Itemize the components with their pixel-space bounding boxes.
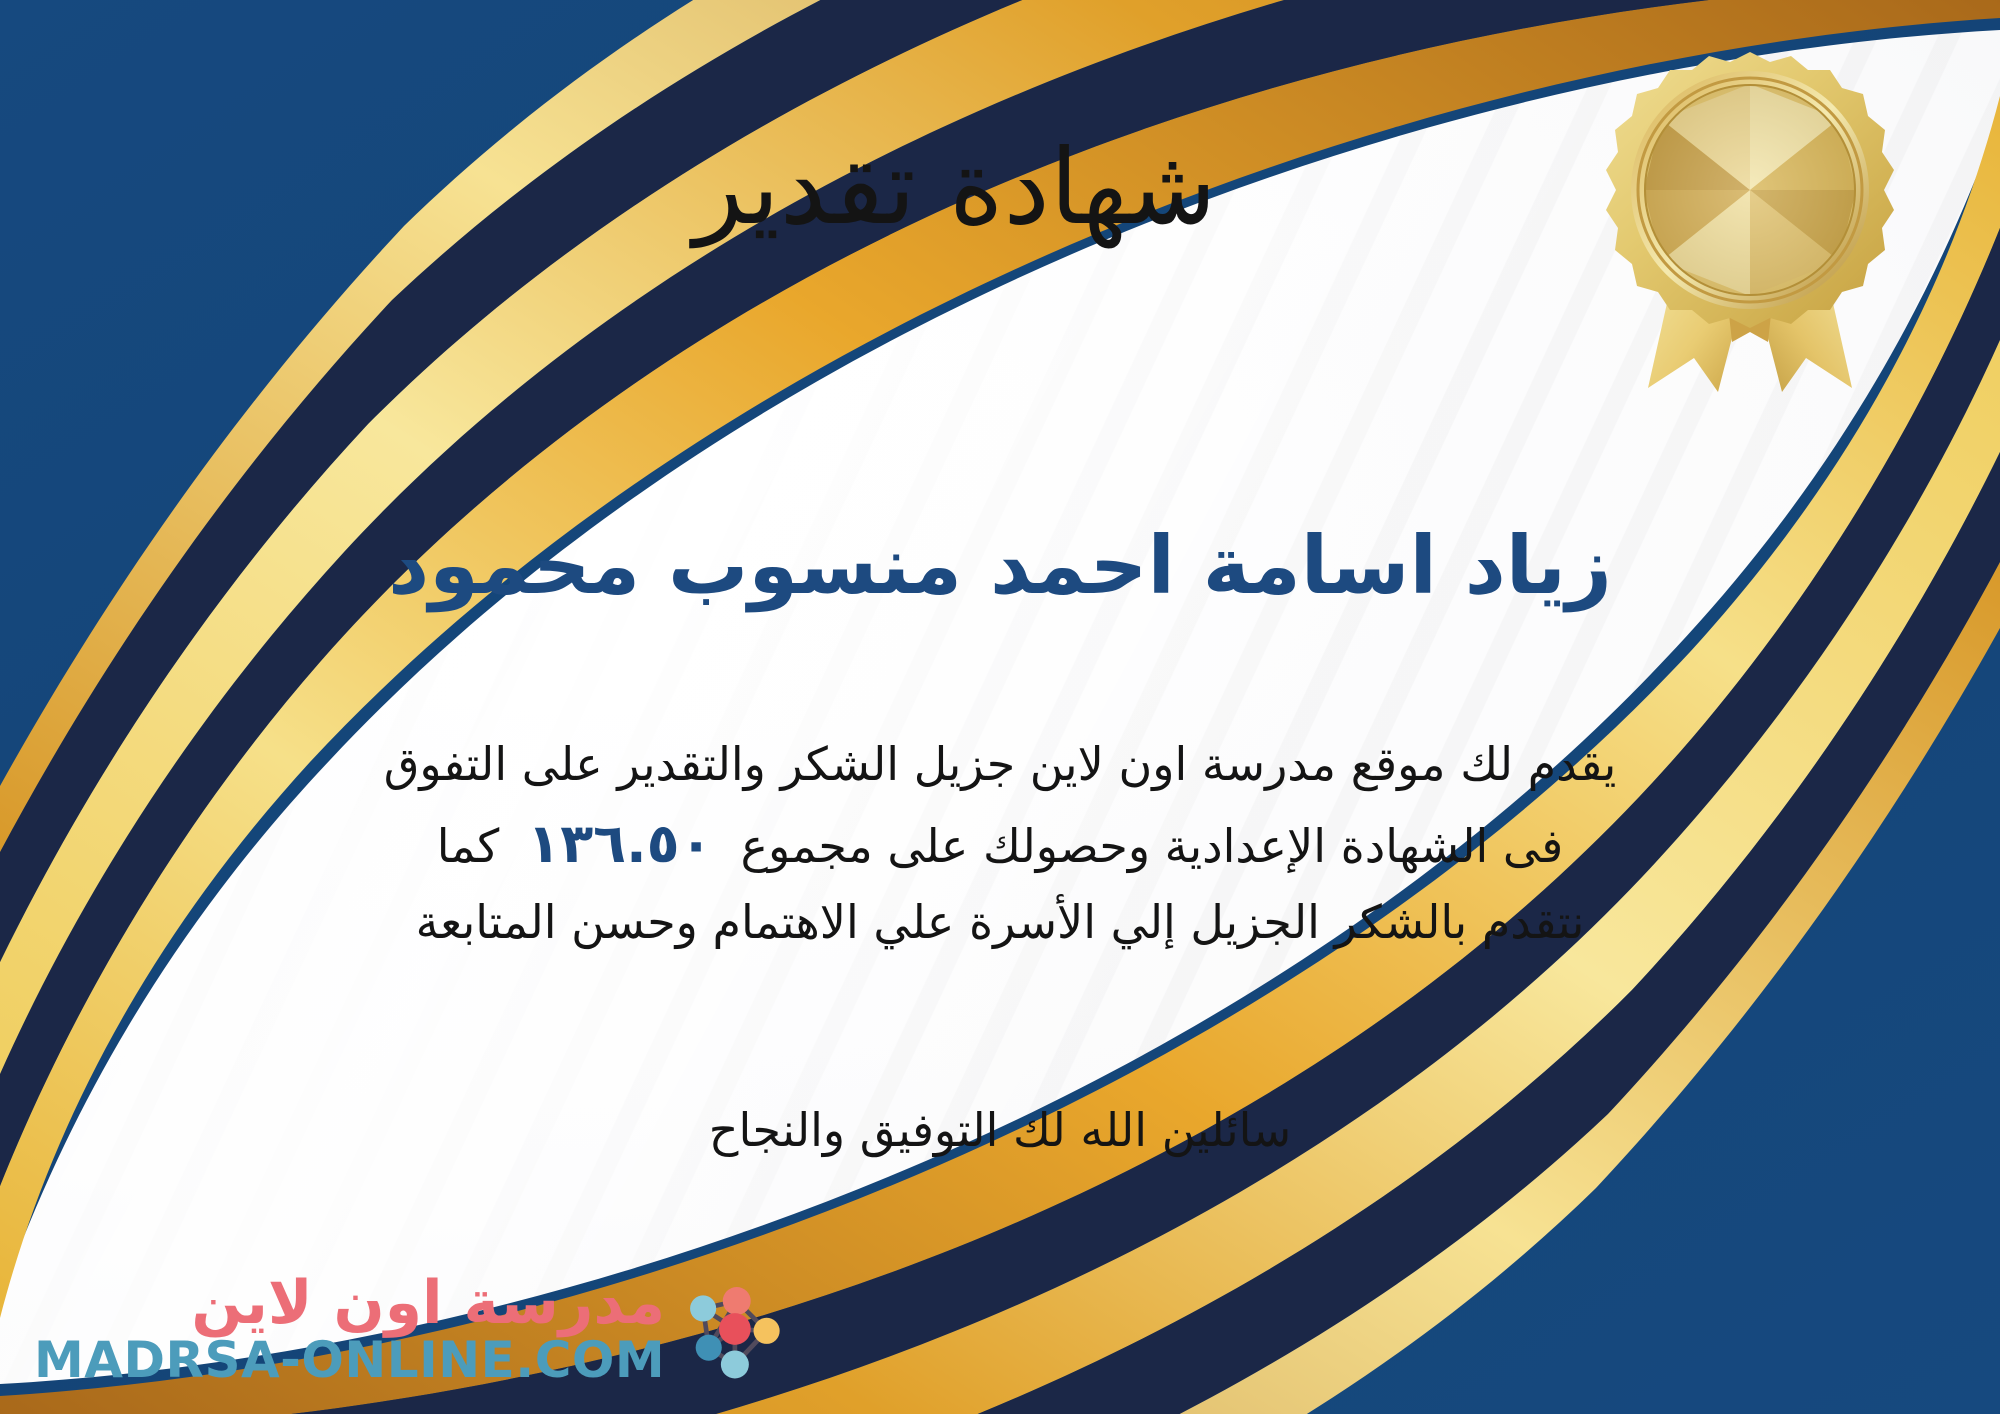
body-line-2-prefix: فى الشهادة الإعدادية وحصولك على مجموع — [741, 819, 1564, 873]
recipient-name: زياد اسامة احمد منسوب محمود — [0, 520, 2000, 612]
brand-name-arabic: مدرسة اون لاين — [191, 1272, 665, 1334]
node-teal — [721, 1350, 749, 1378]
brand-website-url: MADRSA-ONLINE.COM — [34, 1334, 665, 1386]
certificate-page: شهادة تقدير زياد اسامة احمد منسوب محمود … — [0, 0, 2000, 1414]
node-red — [719, 1313, 751, 1345]
closing-wish: سائلين الله لك التوفيق والنجاح — [0, 1098, 2000, 1162]
score-value: ١٣٦.٥٠ — [499, 812, 740, 875]
body-line-2-suffix: كما — [437, 819, 500, 873]
certificate-content: شهادة تقدير زياد اسامة احمد منسوب محمود … — [0, 0, 2000, 1414]
brand-text-group: مدرسة اون لاين MADRSA-ONLINE.COM — [34, 1272, 665, 1386]
body-line-1: يقدم لك موقع مدرسة اون لاين جزيل الشكر و… — [60, 728, 1940, 801]
body-line-2: فى الشهادة الإعدادية وحصولك على مجموع١٣٦… — [60, 801, 1940, 886]
node-coral — [723, 1287, 751, 1315]
node-teal-light — [690, 1295, 716, 1321]
brand-logo[interactable]: مدرسة اون لاين MADRSA-ONLINE.COM — [34, 1272, 789, 1386]
node-blue — [696, 1334, 722, 1360]
certificate-body: يقدم لك موقع مدرسة اون لاين جزيل الشكر و… — [60, 728, 1940, 959]
body-line-3: نتقدم بالشكر الجزيل إلي الأسرة علي الاهت… — [60, 886, 1940, 959]
node-amber — [754, 1318, 780, 1344]
page-title: شهادة تقدير — [0, 130, 2000, 244]
network-nodes-icon — [677, 1273, 789, 1385]
